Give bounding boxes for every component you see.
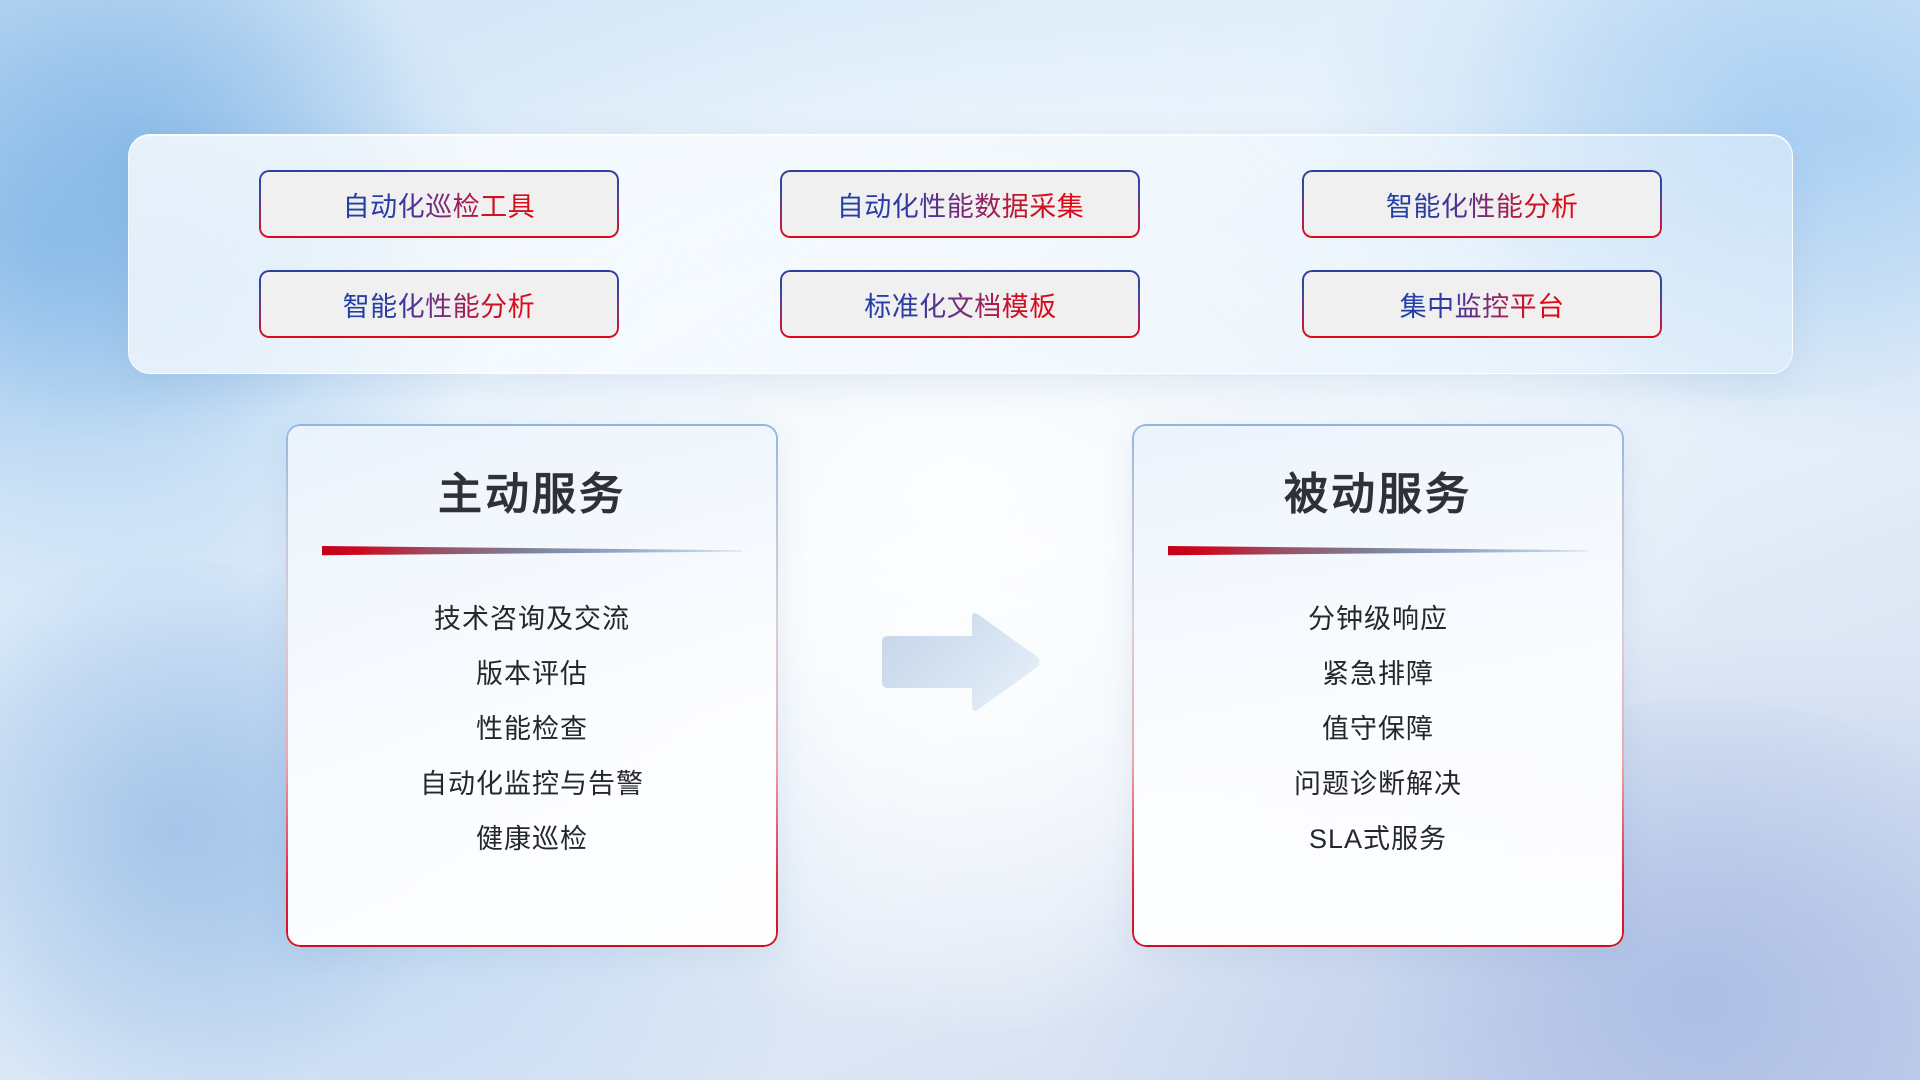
list-item: 分钟级响应 xyxy=(1132,592,1624,647)
card-title: 主动服务 xyxy=(286,458,778,522)
tool-button-1[interactable]: 自动化巡检工具 xyxy=(259,170,619,238)
slide-canvas: 自动化巡检工具 自动化性能数据采集 智能化性能分析 智能化性能分析 标准化文档模… xyxy=(0,0,1920,1080)
tool-button-5[interactable]: 标准化文档模板 xyxy=(780,270,1140,338)
list-item: 自动化监控与告警 xyxy=(286,757,778,812)
tool-button-label: 智能化性能分析 xyxy=(1386,185,1579,224)
service-card-active: 主动服务 技术咨询及交流 版本评估 xyxy=(286,424,778,947)
list-item: 性能检查 xyxy=(286,702,778,757)
list-item: 健康巡检 xyxy=(286,812,778,867)
tool-button-3[interactable]: 智能化性能分析 xyxy=(1302,170,1662,238)
list-item: 值守保障 xyxy=(1132,702,1624,757)
tool-button-2[interactable]: 自动化性能数据采集 xyxy=(780,170,1140,238)
card-divider xyxy=(322,544,742,558)
tool-button-label: 标准化文档模板 xyxy=(864,285,1057,324)
list-item: 紧急排障 xyxy=(1132,647,1624,702)
tool-button-label: 集中监控平台 xyxy=(1400,285,1565,324)
tools-panel: 自动化巡检工具 自动化性能数据采集 智能化性能分析 智能化性能分析 标准化文档模… xyxy=(128,134,1793,374)
card-divider xyxy=(1168,544,1588,558)
list-item: 版本评估 xyxy=(286,647,778,702)
tool-button-label: 自动化巡检工具 xyxy=(343,185,536,224)
arrow-right-icon xyxy=(876,608,1044,716)
tool-button-label: 自动化性能数据采集 xyxy=(837,185,1085,224)
tool-button-label: 智能化性能分析 xyxy=(343,285,536,324)
tool-button-4[interactable]: 智能化性能分析 xyxy=(259,270,619,338)
list-item: SLA式服务 xyxy=(1132,812,1624,867)
service-card-passive: 被动服务 分钟级响应 紧急排障 xyxy=(1132,424,1624,947)
card-item-list: 技术咨询及交流 版本评估 性能检查 自动化监控与告警 健康巡检 xyxy=(286,592,778,867)
card-title: 被动服务 xyxy=(1132,458,1624,522)
tool-button-6[interactable]: 集中监控平台 xyxy=(1302,270,1662,338)
list-item: 问题诊断解决 xyxy=(1132,757,1624,812)
card-item-list: 分钟级响应 紧急排障 值守保障 问题诊断解决 SLA式服务 xyxy=(1132,592,1624,867)
list-item: 技术咨询及交流 xyxy=(286,592,778,647)
